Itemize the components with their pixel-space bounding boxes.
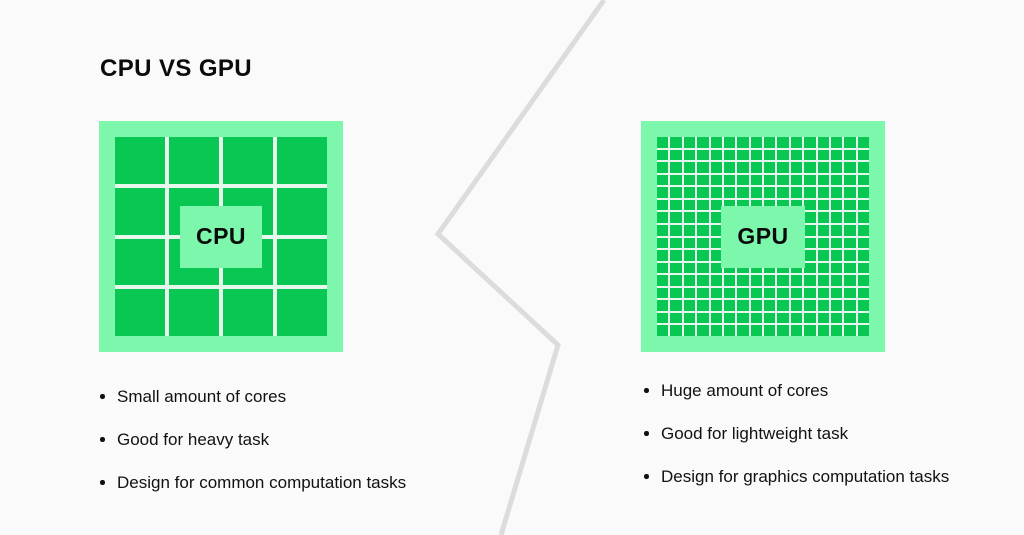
gpu-core-cell <box>697 225 708 236</box>
gpu-core-cell <box>844 300 855 311</box>
gpu-core-cell <box>858 288 869 299</box>
gpu-core-cell <box>697 150 708 161</box>
gpu-core-cell <box>737 288 748 299</box>
gpu-core-cell <box>777 175 788 186</box>
gpu-core-cell <box>831 137 842 148</box>
gpu-core-cell <box>831 162 842 173</box>
gpu-core-cell <box>724 275 735 286</box>
gpu-core-cell <box>804 300 815 311</box>
gpu-core-cell <box>751 300 762 311</box>
gpu-core-cell <box>777 313 788 324</box>
gpu-core-cell <box>697 263 708 274</box>
gpu-core-cell <box>804 288 815 299</box>
gpu-core-cell <box>844 325 855 336</box>
gpu-core-cell <box>818 263 829 274</box>
gpu-core-cell <box>764 175 775 186</box>
cpu-feature-label: Small amount of cores <box>117 387 286 406</box>
cpu-core-cell <box>223 137 273 184</box>
gpu-core-cell <box>818 313 829 324</box>
gpu-core-cell <box>751 275 762 286</box>
cpu-core-cell <box>115 239 165 286</box>
cpu-chip-diagram: CPU <box>99 121 343 352</box>
gpu-core-cell <box>844 212 855 223</box>
gpu-core-cell <box>737 137 748 148</box>
gpu-core-cell <box>804 200 815 211</box>
gpu-core-cell <box>670 275 681 286</box>
gpu-core-cell <box>684 238 695 249</box>
gpu-core-cell <box>697 175 708 186</box>
gpu-feature-label: Design for graphics computation tasks <box>661 467 949 486</box>
gpu-core-cell <box>697 325 708 336</box>
gpu-core-cell <box>751 150 762 161</box>
gpu-core-cell <box>670 313 681 324</box>
gpu-core-cell <box>791 325 802 336</box>
gpu-core-cell <box>751 313 762 324</box>
gpu-feature-label: Good for lightweight task <box>661 424 848 443</box>
gpu-core-cell <box>697 288 708 299</box>
gpu-core-cell <box>711 187 722 198</box>
gpu-core-cell <box>791 275 802 286</box>
gpu-feature-item: Huge amount of cores <box>644 377 984 405</box>
gpu-core-cell <box>858 275 869 286</box>
gpu-core-cell <box>737 187 748 198</box>
gpu-core-cell <box>831 187 842 198</box>
gpu-core-cell <box>657 187 668 198</box>
cpu-feature-item: Small amount of cores <box>100 383 430 411</box>
cpu-core-cell <box>277 239 327 286</box>
gpu-core-cell <box>818 238 829 249</box>
gpu-core-cell <box>684 225 695 236</box>
gpu-core-cell <box>818 150 829 161</box>
bullet-dot-icon <box>644 474 649 479</box>
gpu-core-cell <box>818 300 829 311</box>
infographic-canvas: CPU VS GPU CPU Small amount of coresGood… <box>0 0 1024 535</box>
gpu-core-cell <box>831 275 842 286</box>
gpu-core-cell <box>751 288 762 299</box>
gpu-core-cell <box>764 300 775 311</box>
gpu-core-cell <box>670 175 681 186</box>
cpu-feature-item: Design for common computation tasks <box>100 469 430 497</box>
gpu-core-cell <box>684 263 695 274</box>
cpu-core-cell <box>115 289 165 336</box>
gpu-core-cell <box>844 250 855 261</box>
gpu-core-cell <box>711 288 722 299</box>
gpu-core-cell <box>831 150 842 161</box>
gpu-core-cell <box>724 162 735 173</box>
gpu-core-cell <box>657 200 668 211</box>
gpu-core-cell <box>724 150 735 161</box>
gpu-core-cell <box>751 325 762 336</box>
gpu-core-cell <box>844 162 855 173</box>
gpu-core-cell <box>724 187 735 198</box>
gpu-core-cell <box>777 150 788 161</box>
gpu-core-cell <box>818 275 829 286</box>
gpu-core-cell <box>777 300 788 311</box>
gpu-core-cell <box>804 238 815 249</box>
gpu-core-cell <box>711 175 722 186</box>
gpu-core-cell <box>724 325 735 336</box>
gpu-core-cell <box>684 150 695 161</box>
page-title: CPU VS GPU <box>100 55 252 83</box>
gpu-core-cell <box>724 137 735 148</box>
cpu-label: CPU <box>180 206 262 268</box>
gpu-core-cell <box>764 275 775 286</box>
gpu-core-cell <box>711 313 722 324</box>
gpu-core-cell <box>791 150 802 161</box>
gpu-core-cell <box>804 263 815 274</box>
gpu-feature-label: Huge amount of cores <box>661 381 828 400</box>
gpu-core-cell <box>777 187 788 198</box>
gpu-core-cell <box>684 137 695 148</box>
gpu-core-cell <box>858 175 869 186</box>
gpu-core-cell <box>818 162 829 173</box>
gpu-core-cell <box>751 187 762 198</box>
gpu-core-cell <box>670 300 681 311</box>
gpu-core-cell <box>711 150 722 161</box>
gpu-core-cell <box>684 300 695 311</box>
gpu-core-cell <box>737 275 748 286</box>
gpu-chip-diagram: GPU <box>641 121 885 352</box>
gpu-core-cell <box>670 137 681 148</box>
gpu-core-cell <box>657 263 668 274</box>
gpu-core-cell <box>711 275 722 286</box>
gpu-core-cell <box>831 325 842 336</box>
gpu-core-cell <box>804 250 815 261</box>
gpu-core-cell <box>764 325 775 336</box>
gpu-core-cell <box>684 275 695 286</box>
gpu-core-cell <box>844 200 855 211</box>
gpu-core-cell <box>737 162 748 173</box>
gpu-core-cell <box>697 238 708 249</box>
gpu-core-cell <box>831 288 842 299</box>
gpu-core-cell <box>777 288 788 299</box>
gpu-core-cell <box>818 137 829 148</box>
gpu-core-cell <box>764 150 775 161</box>
gpu-core-cell <box>711 325 722 336</box>
bullet-dot-icon <box>644 388 649 393</box>
gpu-core-cell <box>831 175 842 186</box>
cpu-core-cell <box>115 137 165 184</box>
gpu-core-cell <box>858 212 869 223</box>
gpu-core-cell <box>684 187 695 198</box>
gpu-core-cell <box>724 175 735 186</box>
gpu-core-cell <box>831 263 842 274</box>
gpu-core-cell <box>844 288 855 299</box>
gpu-core-cell <box>670 200 681 211</box>
gpu-core-cell <box>697 212 708 223</box>
gpu-core-cell <box>858 137 869 148</box>
gpu-core-cell <box>818 212 829 223</box>
gpu-core-cell <box>670 250 681 261</box>
bullet-dot-icon <box>100 437 105 442</box>
gpu-core-cell <box>711 137 722 148</box>
gpu-core-cell <box>657 275 668 286</box>
gpu-core-cell <box>844 137 855 148</box>
gpu-core-cell <box>818 175 829 186</box>
gpu-core-cell <box>818 325 829 336</box>
gpu-core-cell <box>737 313 748 324</box>
gpu-core-cell <box>684 325 695 336</box>
gpu-core-cell <box>724 300 735 311</box>
gpu-core-cell <box>791 288 802 299</box>
gpu-label: GPU <box>721 206 805 268</box>
gpu-core-cell <box>844 175 855 186</box>
gpu-core-cell <box>858 325 869 336</box>
gpu-core-cell <box>657 150 668 161</box>
gpu-core-cell <box>657 288 668 299</box>
gpu-core-cell <box>684 313 695 324</box>
gpu-core-cell <box>844 187 855 198</box>
gpu-core-cell <box>724 288 735 299</box>
cpu-feature-label: Design for common computation tasks <box>117 473 406 492</box>
gpu-feature-list: Huge amount of coresGood for lightweight… <box>644 377 984 491</box>
cpu-core-cell <box>223 289 273 336</box>
gpu-core-cell <box>657 137 668 148</box>
cpu-feature-label: Good for heavy task <box>117 430 269 449</box>
bullet-dot-icon <box>100 480 105 485</box>
gpu-core-cell <box>670 263 681 274</box>
gpu-core-cell <box>657 238 668 249</box>
gpu-core-cell <box>697 275 708 286</box>
gpu-core-cell <box>684 250 695 261</box>
gpu-core-cell <box>777 162 788 173</box>
gpu-core-cell <box>844 225 855 236</box>
gpu-core-cell <box>737 325 748 336</box>
gpu-core-cell <box>670 288 681 299</box>
gpu-core-cell <box>858 313 869 324</box>
gpu-core-cell <box>804 150 815 161</box>
gpu-core-cell <box>764 288 775 299</box>
gpu-core-cell <box>697 313 708 324</box>
gpu-core-cell <box>657 313 668 324</box>
cpu-feature-item: Good for heavy task <box>100 426 430 454</box>
gpu-core-cell <box>764 137 775 148</box>
gpu-core-cell <box>804 175 815 186</box>
cpu-core-cell <box>169 137 219 184</box>
gpu-core-cell <box>684 175 695 186</box>
gpu-core-cell <box>804 275 815 286</box>
gpu-core-cell <box>791 300 802 311</box>
gpu-core-cell <box>831 300 842 311</box>
gpu-core-cell <box>684 162 695 173</box>
gpu-core-cell <box>697 187 708 198</box>
gpu-core-cell <box>858 225 869 236</box>
gpu-core-cell <box>657 300 668 311</box>
gpu-core-cell <box>818 200 829 211</box>
gpu-core-cell <box>804 137 815 148</box>
gpu-core-cell <box>737 300 748 311</box>
gpu-core-cell <box>858 300 869 311</box>
gpu-core-cell <box>791 313 802 324</box>
gpu-core-cell <box>724 313 735 324</box>
gpu-core-cell <box>697 200 708 211</box>
gpu-core-cell <box>684 288 695 299</box>
gpu-core-cell <box>844 150 855 161</box>
gpu-core-cell <box>844 238 855 249</box>
gpu-core-cell <box>657 212 668 223</box>
gpu-core-cell <box>670 238 681 249</box>
gpu-core-cell <box>804 313 815 324</box>
gpu-core-cell <box>697 250 708 261</box>
gpu-core-cell <box>697 137 708 148</box>
zigzag-divider-line <box>438 0 604 535</box>
gpu-core-cell <box>858 162 869 173</box>
gpu-core-cell <box>670 162 681 173</box>
gpu-core-cell <box>858 238 869 249</box>
gpu-core-cell <box>818 288 829 299</box>
gpu-core-cell <box>831 238 842 249</box>
gpu-core-cell <box>858 250 869 261</box>
gpu-core-cell <box>751 162 762 173</box>
gpu-core-cell <box>764 187 775 198</box>
gpu-core-cell <box>804 325 815 336</box>
gpu-core-cell <box>764 313 775 324</box>
bullet-dot-icon <box>100 394 105 399</box>
gpu-core-cell <box>684 200 695 211</box>
gpu-core-cell <box>737 175 748 186</box>
gpu-core-cell <box>804 225 815 236</box>
gpu-core-cell <box>657 162 668 173</box>
gpu-core-cell <box>657 175 668 186</box>
gpu-core-cell <box>791 162 802 173</box>
cpu-feature-list: Small amount of coresGood for heavy task… <box>100 383 430 497</box>
gpu-core-cell <box>844 275 855 286</box>
cpu-core-cell <box>277 188 327 235</box>
gpu-core-cell <box>764 162 775 173</box>
gpu-core-cell <box>818 250 829 261</box>
gpu-core-cell <box>777 325 788 336</box>
gpu-core-cell <box>791 137 802 148</box>
gpu-core-cell <box>670 212 681 223</box>
gpu-core-cell <box>657 250 668 261</box>
gpu-core-cell <box>711 162 722 173</box>
gpu-core-cell <box>777 137 788 148</box>
gpu-core-cell <box>737 150 748 161</box>
gpu-core-cell <box>670 187 681 198</box>
bullet-dot-icon <box>644 431 649 436</box>
gpu-core-cell <box>657 325 668 336</box>
gpu-core-cell <box>791 175 802 186</box>
gpu-core-cell <box>818 225 829 236</box>
gpu-core-cell <box>670 325 681 336</box>
gpu-core-cell <box>751 137 762 148</box>
gpu-core-cell <box>818 187 829 198</box>
gpu-core-cell <box>697 300 708 311</box>
gpu-core-cell <box>697 162 708 173</box>
gpu-core-cell <box>858 150 869 161</box>
gpu-core-cell <box>751 175 762 186</box>
gpu-core-cell <box>670 225 681 236</box>
gpu-feature-item: Design for graphics computation tasks <box>644 463 984 491</box>
gpu-core-cell <box>831 212 842 223</box>
gpu-core-cell <box>804 162 815 173</box>
cpu-core-cell <box>115 188 165 235</box>
gpu-core-cell <box>858 187 869 198</box>
gpu-core-cell <box>831 225 842 236</box>
cpu-core-cell <box>169 289 219 336</box>
gpu-core-cell <box>791 187 802 198</box>
cpu-core-cell <box>277 289 327 336</box>
gpu-core-cell <box>844 263 855 274</box>
gpu-core-cell <box>844 313 855 324</box>
gpu-core-cell <box>858 263 869 274</box>
gpu-core-cell <box>858 200 869 211</box>
gpu-core-cell <box>777 275 788 286</box>
gpu-core-cell <box>657 225 668 236</box>
gpu-feature-item: Good for lightweight task <box>644 420 984 448</box>
gpu-core-cell <box>804 187 815 198</box>
cpu-core-cell <box>277 137 327 184</box>
gpu-core-cell <box>831 250 842 261</box>
gpu-core-cell <box>804 212 815 223</box>
gpu-core-cell <box>670 150 681 161</box>
gpu-core-cell <box>831 200 842 211</box>
gpu-core-cell <box>684 212 695 223</box>
gpu-core-cell <box>711 300 722 311</box>
gpu-core-cell <box>831 313 842 324</box>
